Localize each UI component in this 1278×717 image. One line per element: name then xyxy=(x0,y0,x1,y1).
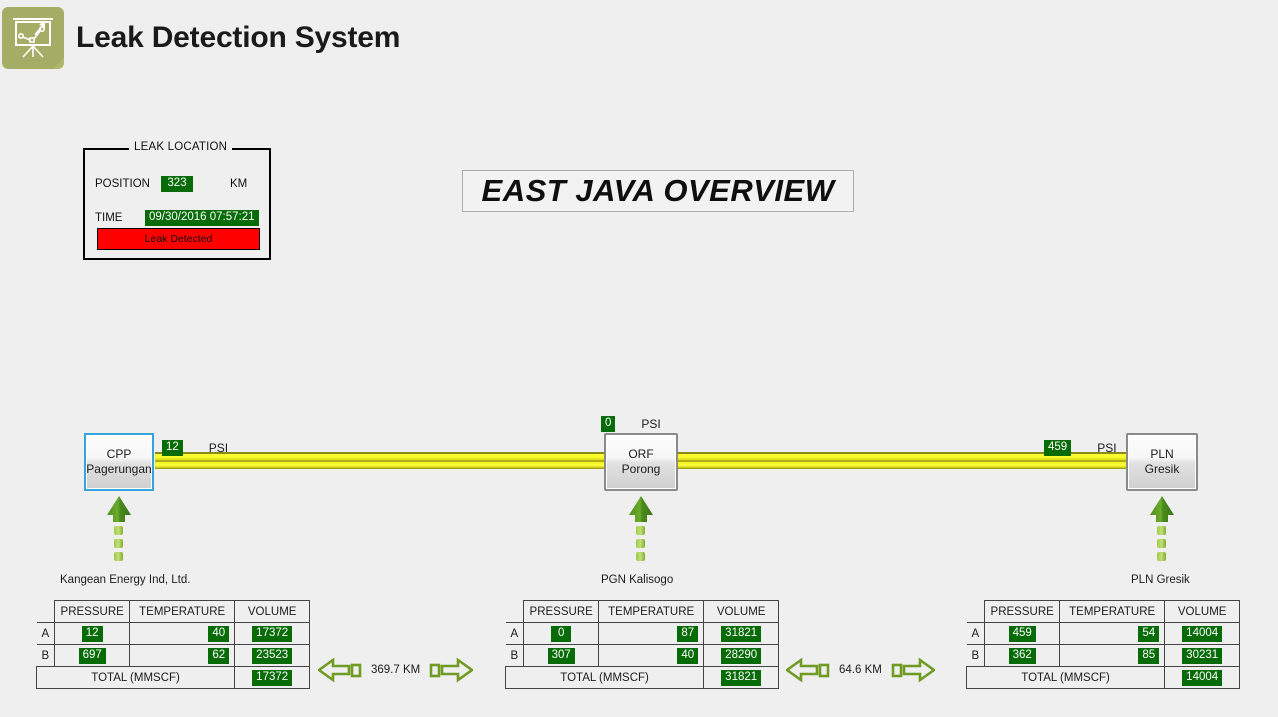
cell-temperature: 54 xyxy=(1060,623,1165,645)
column-header-volume: VOLUME xyxy=(1165,601,1240,623)
total-label: TOTAL (MMSCF) xyxy=(506,667,704,689)
total-value: 17372 xyxy=(252,670,292,686)
psi-value: 0 xyxy=(601,416,615,432)
cell-pressure: 362 xyxy=(985,645,1060,667)
table-row: A 12 40 17372 xyxy=(37,623,310,645)
source-caption-kangean: Kangean Energy Ind, Ltd. xyxy=(60,574,190,586)
column-header-volume: VOLUME xyxy=(704,601,779,623)
pressure-value: 12 xyxy=(82,626,103,642)
station-pln-gresik[interactable]: PLN Gresik xyxy=(1126,433,1198,491)
table-total-row: TOTAL (MMSCF) 31821 xyxy=(506,667,779,689)
temperature-value: 62 xyxy=(208,648,229,664)
presentation-chart-icon xyxy=(11,16,55,60)
volume-value: 14004 xyxy=(1182,626,1222,642)
total-label: TOTAL (MMSCF) xyxy=(37,667,235,689)
station-name-line1: ORF xyxy=(628,447,653,462)
station-name-line2: Pagerungan xyxy=(86,462,151,477)
station-name-line2: Porong xyxy=(622,462,661,477)
cell-pressure: 0 xyxy=(524,623,599,645)
row-label: B xyxy=(967,645,985,667)
data-table-cpp: PRESSURE TEMPERATURE VOLUME A 12 40 1737… xyxy=(36,600,310,689)
column-header-pressure: PRESSURE xyxy=(985,601,1060,623)
row-label: A xyxy=(967,623,985,645)
psi-unit-label: PSI xyxy=(641,417,660,431)
table-total-row: TOTAL (MMSCF) 14004 xyxy=(967,667,1240,689)
overview-banner: EAST JAVA OVERVIEW xyxy=(462,170,854,212)
table-row: B 697 62 23523 xyxy=(37,645,310,667)
station-name-line2: Gresik xyxy=(1145,462,1180,477)
distance-marker-1: 369.7 KM xyxy=(318,657,473,683)
position-label: POSITION xyxy=(95,178,150,190)
time-label: TIME xyxy=(95,212,122,224)
app-logo-icon xyxy=(2,7,64,69)
pressure-value: 362 xyxy=(1009,648,1036,664)
row-label: A xyxy=(506,623,524,645)
table-row: B 307 40 28290 xyxy=(506,645,779,667)
total-label: TOTAL (MMSCF) xyxy=(967,667,1165,689)
cell-temperature: 87 xyxy=(599,623,704,645)
feed-arrow-up-orf xyxy=(628,496,654,564)
distance-label: 369.7 KM xyxy=(371,664,420,676)
table-row: A 0 87 31821 xyxy=(506,623,779,645)
overview-banner-text: EAST JAVA OVERVIEW xyxy=(482,173,835,209)
cell-total: 17372 xyxy=(235,667,310,689)
cell-pressure: 12 xyxy=(55,623,130,645)
pressure-value: 459 xyxy=(1009,626,1036,642)
cell-pressure: 697 xyxy=(55,645,130,667)
volume-value: 28290 xyxy=(721,648,761,664)
table-total-row: TOTAL (MMSCF) 17372 xyxy=(37,667,310,689)
total-value: 14004 xyxy=(1182,670,1222,686)
source-caption-pln: PLN Gresik xyxy=(1131,574,1190,586)
volume-value: 30231 xyxy=(1182,648,1222,664)
feed-arrow-up-pln xyxy=(1149,496,1175,564)
column-header-temperature: TEMPERATURE xyxy=(599,601,704,623)
volume-value: 23523 xyxy=(252,648,292,664)
cell-volume: 17372 xyxy=(235,623,310,645)
arrow-right-icon xyxy=(429,657,473,683)
column-header-temperature: TEMPERATURE xyxy=(1060,601,1165,623)
data-table-orf: PRESSURE TEMPERATURE VOLUME A 0 87 31821… xyxy=(505,600,779,689)
time-value: 09/30/2016 07:57:21 xyxy=(145,210,259,226)
feed-arrow-up-cpp xyxy=(106,496,132,564)
leak-location-legend: LEAK LOCATION xyxy=(129,141,232,153)
source-caption-pgn: PGN Kalisogo xyxy=(601,574,673,586)
cell-total: 31821 xyxy=(704,667,779,689)
total-value: 31821 xyxy=(721,670,761,686)
column-header-pressure: PRESSURE xyxy=(524,601,599,623)
page-title: Leak Detection System xyxy=(76,21,400,55)
psi-readout-pln: 459 PSI xyxy=(1044,440,1117,456)
table-header-row: PRESSURE TEMPERATURE VOLUME xyxy=(967,601,1240,623)
volume-value: 17372 xyxy=(252,626,292,642)
station-cpp-pagerungan[interactable]: CPP Pagerungan xyxy=(84,433,154,491)
cell-total: 14004 xyxy=(1165,667,1240,689)
app-header: Leak Detection System xyxy=(0,0,1278,80)
cell-volume: 31821 xyxy=(704,623,779,645)
cell-volume: 14004 xyxy=(1165,623,1240,645)
station-orf-porong[interactable]: ORF Porong xyxy=(604,433,678,491)
table-row: B 362 85 30231 xyxy=(967,645,1240,667)
station-name-line1: CPP xyxy=(107,447,132,462)
volume-value: 31821 xyxy=(721,626,761,642)
psi-value: 12 xyxy=(162,440,183,456)
row-label: B xyxy=(506,645,524,667)
temperature-value: 85 xyxy=(1138,648,1159,664)
cell-temperature: 85 xyxy=(1060,645,1165,667)
arrow-right-icon xyxy=(891,657,935,683)
psi-unit-label: PSI xyxy=(209,441,228,455)
cell-volume: 28290 xyxy=(704,645,779,667)
column-header-temperature: TEMPERATURE xyxy=(130,601,235,623)
temperature-value: 40 xyxy=(208,626,229,642)
corner-cell xyxy=(967,601,985,623)
distance-marker-2: 64.6 KM xyxy=(786,657,935,683)
leak-location-panel: LEAK LOCATION POSITION 323 KM TIME 09/30… xyxy=(83,148,271,260)
psi-value: 459 xyxy=(1044,440,1071,456)
row-label: A xyxy=(37,623,55,645)
cell-pressure: 459 xyxy=(985,623,1060,645)
position-value: 323 xyxy=(161,176,193,192)
cell-temperature: 40 xyxy=(130,623,235,645)
corner-cell xyxy=(37,601,55,623)
arrow-left-icon xyxy=(318,657,362,683)
table-header-row: PRESSURE TEMPERATURE VOLUME xyxy=(37,601,310,623)
pressure-value: 307 xyxy=(548,648,575,664)
leak-detected-alarm: Leak Detected xyxy=(97,228,260,250)
table-row: A 459 54 14004 xyxy=(967,623,1240,645)
distance-label: 64.6 KM xyxy=(839,664,882,676)
cell-temperature: 40 xyxy=(599,645,704,667)
cell-volume: 23523 xyxy=(235,645,310,667)
psi-readout-orf: 0 PSI xyxy=(601,416,661,432)
pressure-value: 697 xyxy=(79,648,106,664)
temperature-value: 40 xyxy=(677,648,698,664)
cell-pressure: 307 xyxy=(524,645,599,667)
column-header-pressure: PRESSURE xyxy=(55,601,130,623)
cell-volume: 30231 xyxy=(1165,645,1240,667)
cell-temperature: 62 xyxy=(130,645,235,667)
corner-cell xyxy=(506,601,524,623)
pressure-value: 0 xyxy=(551,626,571,642)
column-header-volume: VOLUME xyxy=(235,601,310,623)
arrow-left-icon xyxy=(786,657,830,683)
temperature-value: 54 xyxy=(1138,626,1159,642)
station-name-line1: PLN xyxy=(1150,447,1173,462)
table-header-row: PRESSURE TEMPERATURE VOLUME xyxy=(506,601,779,623)
psi-unit-label: PSI xyxy=(1097,441,1116,455)
row-label: B xyxy=(37,645,55,667)
psi-readout-cpp: 12 PSI xyxy=(162,440,228,456)
temperature-value: 87 xyxy=(677,626,698,642)
position-unit-label: KM xyxy=(230,178,247,190)
data-table-pln: PRESSURE TEMPERATURE VOLUME A 459 54 140… xyxy=(966,600,1240,689)
